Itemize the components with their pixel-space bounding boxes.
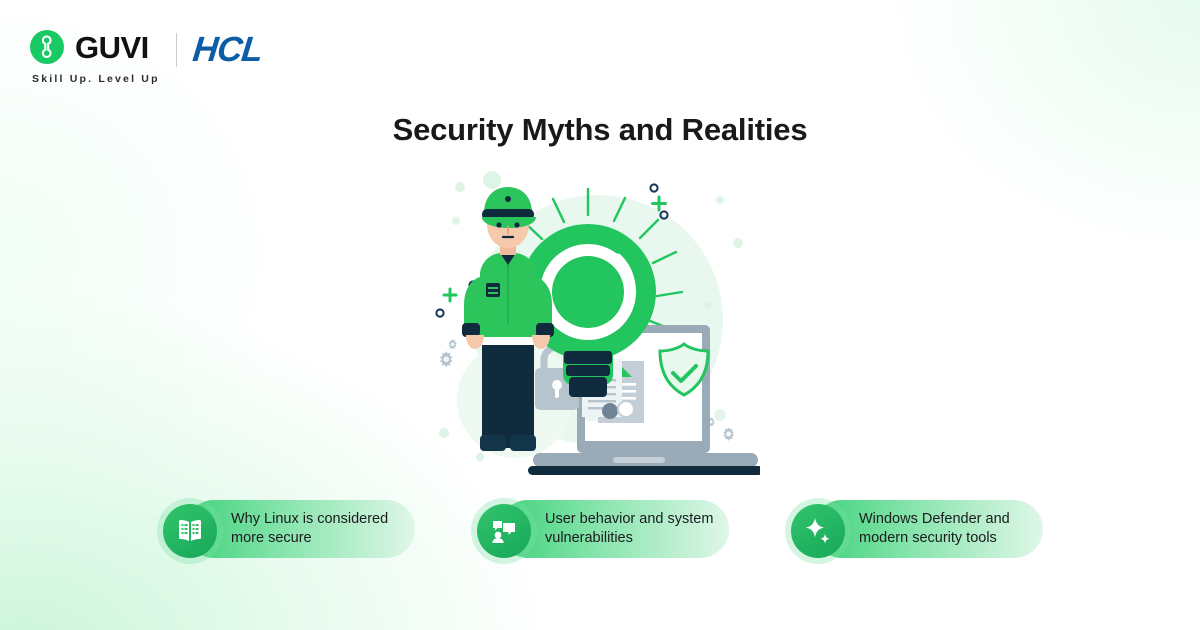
topic-card-linux[interactable]: Why Linux is considered more secure [157, 498, 415, 560]
vertical-divider [176, 33, 177, 67]
topic-card-windows-defender[interactable]: Windows Defender and modern security too… [785, 498, 1043, 560]
card-label: Why Linux is considered more secure [231, 510, 409, 549]
sparkle-icon [791, 504, 845, 558]
guvi-logo: GUVI Skill Up. Level Up [30, 30, 160, 85]
card-label: Windows Defender and modern security too… [859, 510, 1037, 549]
page-title: Security Myths and Realities [0, 112, 1200, 148]
topic-card-list: Why Linux is considered more secure User… [0, 498, 1200, 560]
guvi-g-icon [30, 30, 64, 64]
guvi-tagline: Skill Up. Level Up [32, 73, 160, 85]
hcl-wordmark: HCL [191, 32, 264, 67]
brand-logo-bar: GUVI Skill Up. Level Up HCL [30, 30, 262, 85]
book-icon [163, 504, 217, 558]
chat-person-icon [477, 504, 531, 558]
topic-card-user-behavior[interactable]: User behavior and system vulnerabilities [471, 498, 729, 560]
security-illustration [420, 165, 760, 490]
card-label: User behavior and system vulnerabilities [545, 510, 723, 549]
guvi-wordmark: GUVI [75, 32, 149, 63]
